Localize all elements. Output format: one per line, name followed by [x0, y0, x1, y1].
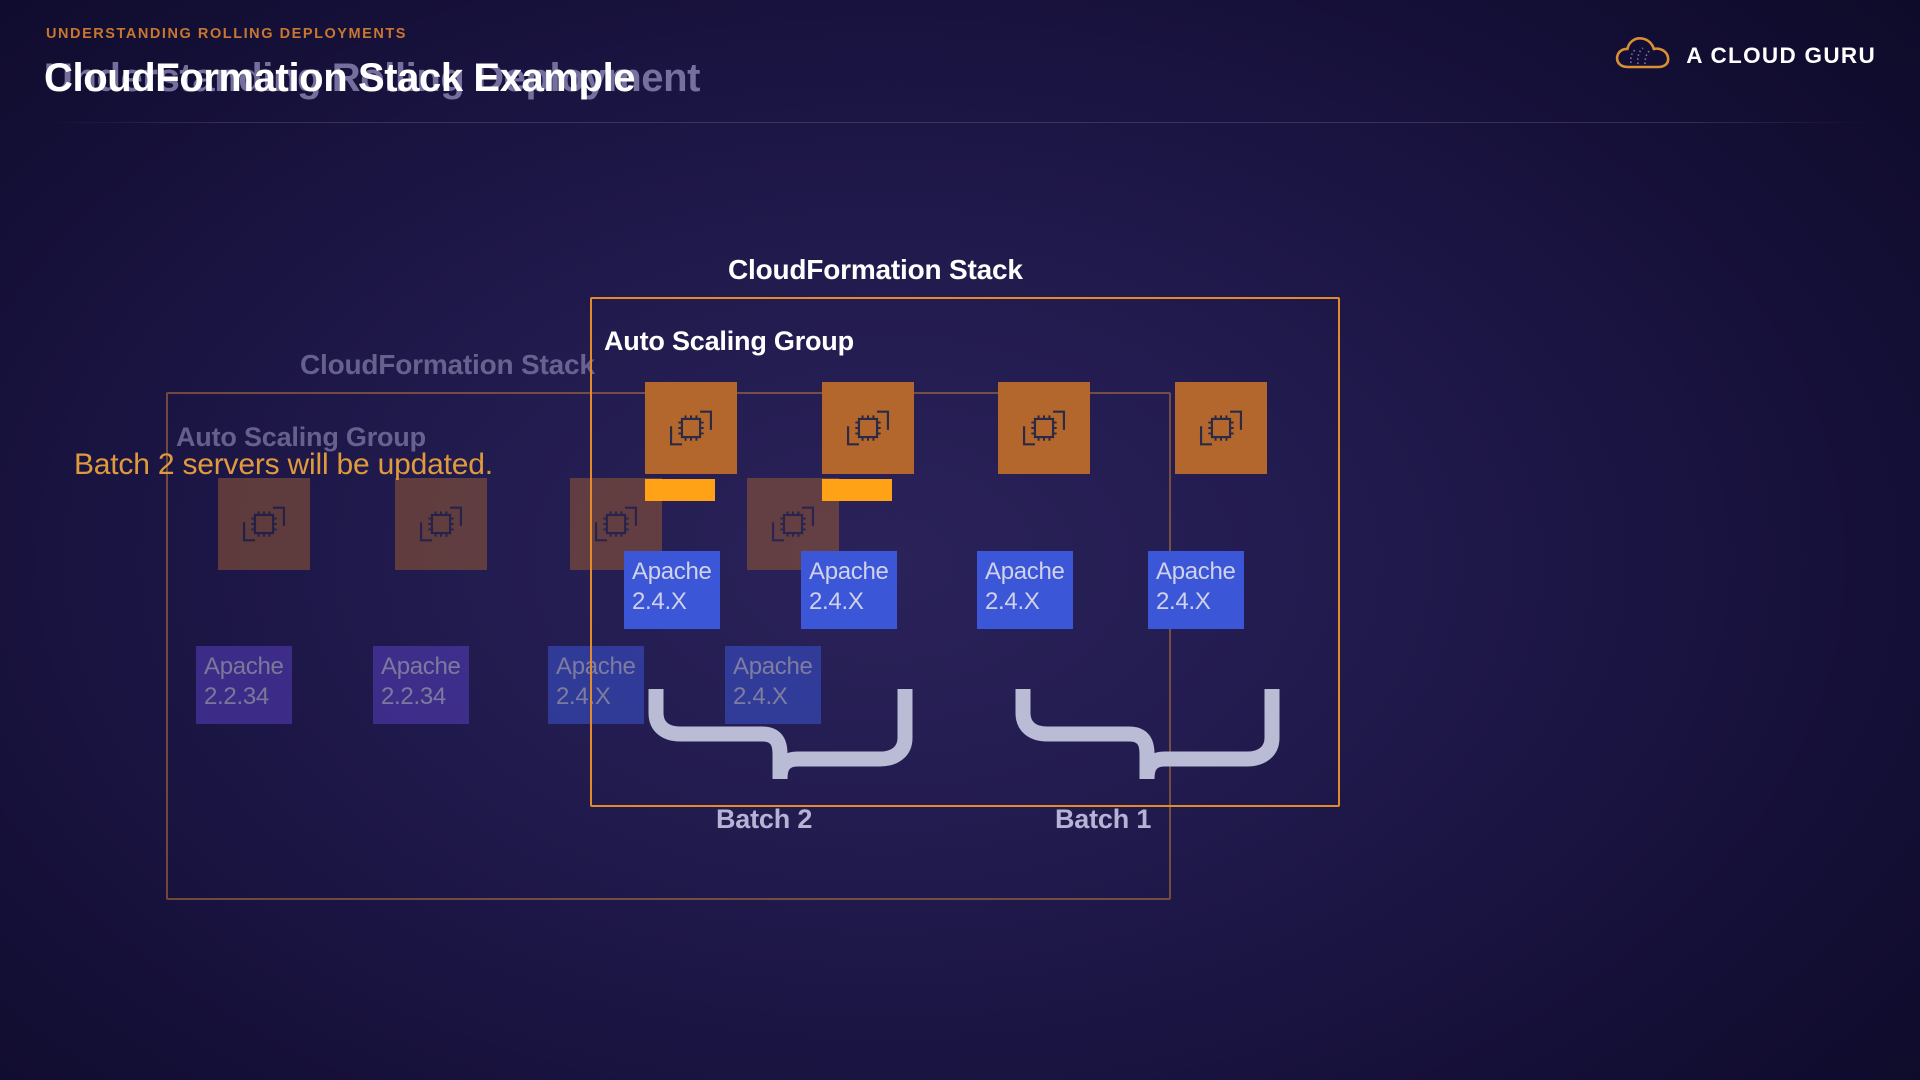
- diagram-scene-incoming: CloudFormation Stack Auto Scaling Group …: [0, 124, 1920, 1080]
- apache-label: Apache: [632, 557, 712, 587]
- apache-version-chip: Apache 2.4.X: [624, 551, 720, 629]
- ec2-instance-icon: [1015, 399, 1073, 457]
- auto-scaling-group-label: Auto Scaling Group: [604, 326, 854, 357]
- batch-brace: [1015, 689, 1280, 779]
- ec2-instance-icon: [1192, 399, 1250, 457]
- apache-version-chip: Apache 2.4.X: [1148, 551, 1244, 629]
- cloud-icon: [1614, 34, 1672, 77]
- instance-tile[interactable]: [998, 382, 1090, 474]
- apache-version-chip: Apache 2.4.X: [977, 551, 1073, 629]
- update-highlight-band: [822, 479, 892, 501]
- batch-label: Batch 2: [716, 804, 812, 835]
- update-highlight-band: [645, 479, 715, 501]
- apache-label: Apache: [1156, 557, 1236, 587]
- apache-version-chip: Apache 2.4.X: [801, 551, 897, 629]
- brand-name: A CLOUD GURU: [1686, 43, 1876, 69]
- header-divider: [44, 122, 1874, 123]
- instance-tile[interactable]: [1175, 382, 1267, 474]
- instance-tile[interactable]: [645, 382, 737, 474]
- apache-version: 2.4.X: [985, 587, 1065, 617]
- apache-label: Apache: [985, 557, 1065, 587]
- apache-version: 2.4.X: [809, 587, 889, 617]
- page-title: CloudFormation Stack Example: [44, 52, 635, 104]
- cloudformation-stack-label: CloudFormation Stack: [728, 254, 1023, 286]
- diagram-canvas: CloudFormation Stack Auto Scaling Group …: [0, 124, 1920, 1080]
- ec2-instance-icon: [839, 399, 897, 457]
- slide-header: UNDERSTANDING ROLLING DEPLOYMENTS Unders…: [0, 0, 1920, 124]
- slide-title-stack: Understanding Rolling Deployment CloudFo…: [44, 52, 1144, 104]
- apache-label: Apache: [809, 557, 889, 587]
- ec2-instance-icon: [662, 399, 720, 457]
- apache-version: 2.4.X: [632, 587, 712, 617]
- apache-version: 2.4.X: [1156, 587, 1236, 617]
- slide-eyebrow: UNDERSTANDING ROLLING DEPLOYMENTS: [46, 26, 407, 42]
- batch-label: Batch 1: [1055, 804, 1151, 835]
- slide-caption: Batch 2 servers will be updated.: [74, 444, 544, 486]
- batch-brace: [648, 689, 913, 779]
- brand-logo: A CLOUD GURU: [1614, 34, 1876, 77]
- instance-tile[interactable]: [822, 382, 914, 474]
